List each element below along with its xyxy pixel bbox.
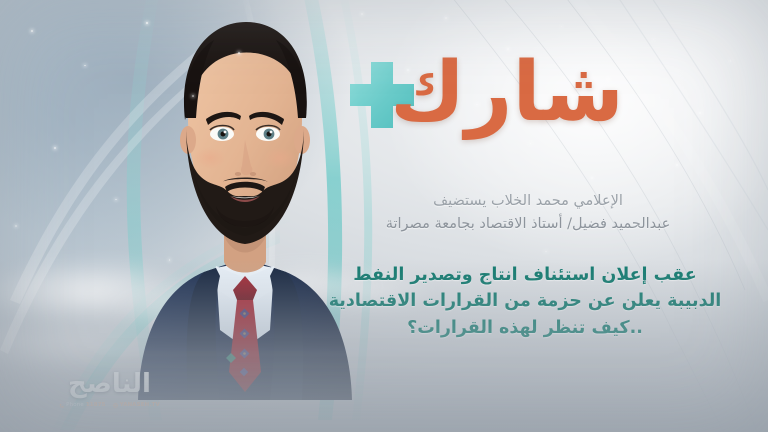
title-block: شارك xyxy=(342,52,672,134)
background-bottom-gradient xyxy=(0,259,768,432)
subtitle-line-guest: عبدالحميد فضيل/ أستاذ الاقتصاد بجامعة مص… xyxy=(318,213,738,236)
subtitle-block: الإعلامي محمد الخلاب يستضيف عبدالحميد فض… xyxy=(318,190,738,237)
broadcast-graphic-stage: شارك الإعلامي محمد الخلاب يستضيف عبدالحم… xyxy=(0,0,768,432)
page-title: شارك xyxy=(342,52,672,134)
subtitle-line-host: الإعلامي محمد الخلاب يستضيف xyxy=(318,190,738,213)
